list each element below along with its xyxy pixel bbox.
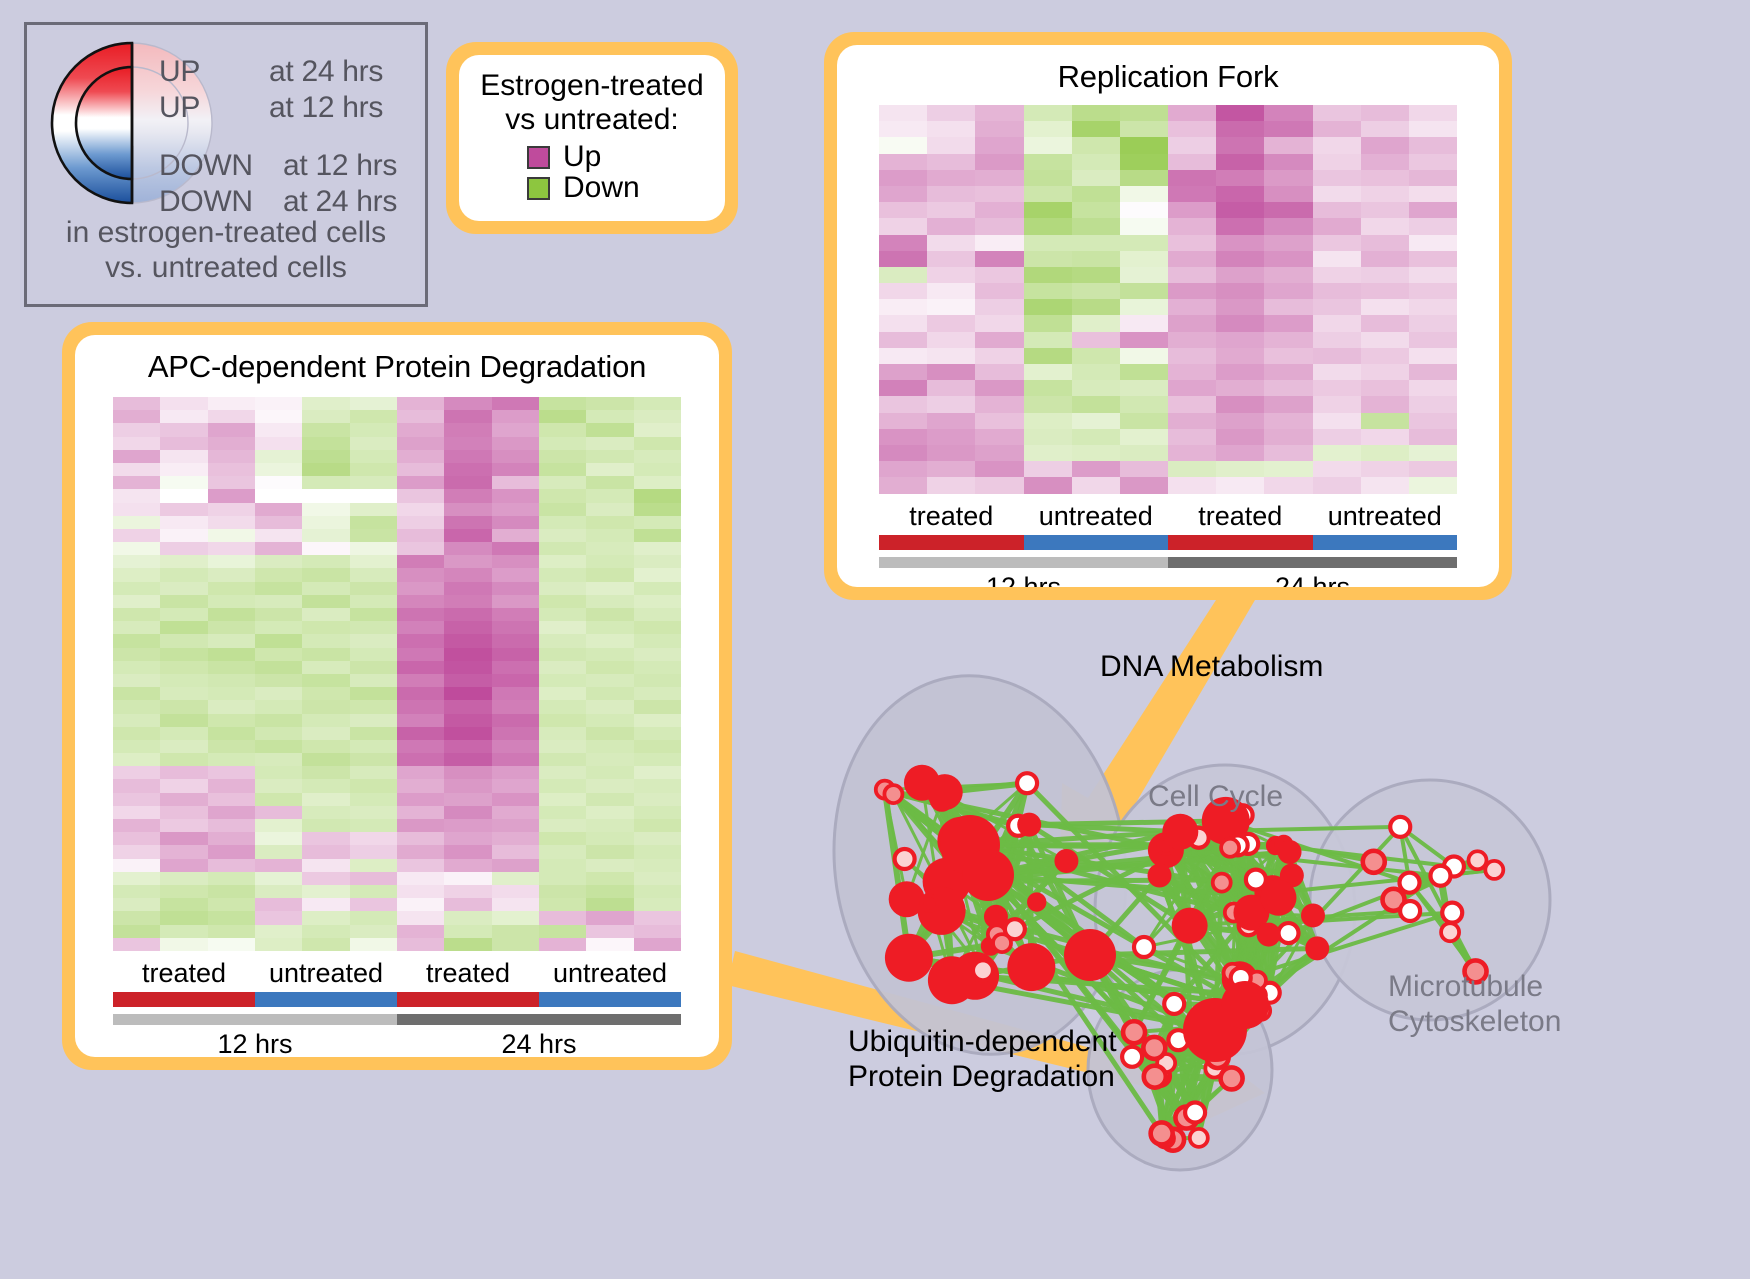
heatmap-cell	[1409, 202, 1457, 218]
heatmap-cell	[160, 806, 207, 819]
heatmap-cell	[160, 925, 207, 938]
heatmap-cell	[208, 779, 255, 792]
heatmap-cell	[1264, 218, 1312, 234]
heatmap-cell	[113, 608, 160, 621]
heatmap-cell	[113, 568, 160, 581]
heatmap-cell	[927, 364, 975, 380]
heatmap-cell	[1072, 315, 1120, 331]
legend-label-down: Down	[563, 173, 640, 204]
heatmap-cell	[255, 555, 302, 568]
heatmap-cell	[492, 779, 539, 792]
heatmap-cell	[975, 170, 1023, 186]
heatmap-cell	[1361, 105, 1409, 121]
key-time-1: at 12 hrs	[269, 91, 383, 125]
heatmap-cell	[302, 568, 349, 581]
heatmap-cell	[302, 845, 349, 858]
heatmap-cell	[113, 714, 160, 727]
heatmap-cell	[539, 674, 586, 687]
heatmap-cell	[397, 898, 444, 911]
heatmap-cell	[255, 727, 302, 740]
heatmap-cell	[1024, 477, 1072, 493]
heatmap-cell	[397, 555, 444, 568]
heatmap-cell	[397, 437, 444, 450]
heatmap-cell	[586, 674, 633, 687]
heatmap-cell	[113, 753, 160, 766]
heatmap-cell	[1361, 332, 1409, 348]
heatmap-cell	[1264, 235, 1312, 251]
heatmap-cell	[1409, 251, 1457, 267]
heatmap-cell	[255, 582, 302, 595]
heatmap-cell	[492, 806, 539, 819]
heatmap-cell	[1313, 445, 1361, 461]
heatmap-cell	[302, 476, 349, 489]
key-direction-0: UP	[159, 55, 200, 89]
heatmap-cell	[634, 450, 681, 463]
heatmap-cell	[208, 819, 255, 832]
heatmap-cell	[634, 714, 681, 727]
treatment-segment-treated-24	[397, 992, 539, 1007]
network-node	[1123, 1021, 1145, 1043]
heatmap-cell	[927, 445, 975, 461]
heatmap-cell	[302, 489, 349, 502]
heatmap-cell	[1072, 429, 1120, 445]
heatmap-cell	[634, 542, 681, 555]
cluster-label-ubiquitin: Ubiquitin-dependent Protein Degradation	[848, 1025, 1117, 1095]
heatmap-cell	[634, 516, 681, 529]
treatment-segment-treated-12	[879, 535, 1024, 550]
heatmap-cell	[350, 925, 397, 938]
cluster-label-microtubule-line1: Microtubule	[1388, 970, 1561, 1005]
heatmap-cell	[1216, 429, 1264, 445]
network-node	[928, 956, 976, 1004]
condition-label: untreated	[1313, 501, 1458, 532]
heatmap-cell	[586, 463, 633, 476]
heatmap-cell	[1024, 267, 1072, 283]
heatmap-cell	[255, 437, 302, 450]
heatmap-cell	[255, 410, 302, 423]
heatmap-cell	[255, 648, 302, 661]
heatmap-cell	[586, 568, 633, 581]
heatmap-cell	[1216, 364, 1264, 380]
heatmap-cell	[302, 819, 349, 832]
heatmap-cell	[1264, 283, 1312, 299]
heatmap-cell	[1024, 137, 1072, 153]
heatmap-cell	[492, 819, 539, 832]
heatmap-cell	[350, 740, 397, 753]
heatmap-cell	[397, 608, 444, 621]
heatmap-cell	[255, 529, 302, 542]
heatmap-cell	[634, 463, 681, 476]
heatmap-cell	[1024, 461, 1072, 477]
heatmap-cell	[397, 648, 444, 661]
heatmap-cell	[444, 872, 491, 885]
apc-condition-labels: treated untreated treated untreated	[113, 958, 681, 989]
heatmap-cell	[586, 476, 633, 489]
heatmap-cell	[1168, 396, 1216, 412]
heatmap-cell	[927, 170, 975, 186]
heatmap-cell	[113, 634, 160, 647]
time-segment-12	[113, 1014, 397, 1025]
heatmap-cell	[113, 437, 160, 450]
heatmap-cell	[160, 503, 207, 516]
heatmap-cell	[1361, 477, 1409, 493]
heatmap-cell	[160, 700, 207, 713]
heatmap-cell	[208, 423, 255, 436]
network-node	[1162, 814, 1198, 850]
heatmap-cell	[539, 766, 586, 779]
heatmap-cell	[208, 727, 255, 740]
heatmap-cell	[444, 397, 491, 410]
heatmap-cell	[539, 727, 586, 740]
heatmap-cell	[879, 332, 927, 348]
heatmap-cell	[1216, 461, 1264, 477]
heatmap-cell	[350, 648, 397, 661]
heatmap-cell	[113, 925, 160, 938]
network-node	[1190, 1129, 1208, 1147]
heatmap-cell	[1072, 461, 1120, 477]
heatmap-cell	[879, 315, 927, 331]
replication-fork-title: Replication Fork	[837, 45, 1499, 95]
heatmap-cell	[492, 437, 539, 450]
heatmap-cell	[1024, 202, 1072, 218]
heatmap-cell	[492, 529, 539, 542]
heatmap-cell	[634, 648, 681, 661]
heatmap-cell	[444, 555, 491, 568]
heatmap-cell	[255, 568, 302, 581]
heatmap-cell	[1409, 121, 1457, 137]
heatmap-cell	[160, 397, 207, 410]
heatmap-cell	[350, 595, 397, 608]
network-node	[1363, 851, 1385, 873]
heatmap-cell	[160, 832, 207, 845]
heatmap-cell	[927, 202, 975, 218]
heatmap-cell	[1216, 186, 1264, 202]
heatmap-cell	[160, 608, 207, 621]
heatmap-cell	[350, 410, 397, 423]
heatmap-cell	[302, 595, 349, 608]
network-node	[1213, 874, 1231, 892]
treatment-segment-untreated-12	[255, 992, 397, 1007]
heatmap-cell	[397, 674, 444, 687]
network-node	[1221, 981, 1269, 1029]
heatmap-cell	[302, 555, 349, 568]
heatmap-cell	[539, 793, 586, 806]
heatmap-cell	[255, 423, 302, 436]
heatmap-cell	[1313, 461, 1361, 477]
heatmap-cell	[397, 911, 444, 924]
heatmap-cell	[975, 186, 1023, 202]
heatmap-cell	[1072, 445, 1120, 461]
condition-label: untreated	[1024, 501, 1169, 532]
heatmap-cell	[444, 542, 491, 555]
heatmap-cell	[350, 476, 397, 489]
heatmap-cell	[1024, 364, 1072, 380]
heatmap-cell	[160, 714, 207, 727]
heatmap-cell	[1072, 348, 1120, 364]
heatmap-cell	[927, 315, 975, 331]
heatmap-cell	[397, 634, 444, 647]
heatmap-cell	[1168, 283, 1216, 299]
heatmap-cell	[975, 121, 1023, 137]
heatmap-cell	[208, 595, 255, 608]
heatmap-cell	[350, 568, 397, 581]
heatmap-cell	[444, 516, 491, 529]
heatmap-cell	[975, 105, 1023, 121]
heatmap-cell	[1024, 299, 1072, 315]
heatmap-cell	[634, 634, 681, 647]
heatmap-cell	[879, 251, 927, 267]
heatmap-cell	[255, 714, 302, 727]
heatmap-cell	[1361, 283, 1409, 299]
legend-heading-line1: Estrogen-treated	[469, 69, 715, 103]
heatmap-cell	[1168, 429, 1216, 445]
heatmap-cell	[1264, 105, 1312, 121]
network-node	[1257, 923, 1281, 947]
heatmap-cell	[634, 568, 681, 581]
heatmap-cell	[879, 283, 927, 299]
heatmap-cell	[444, 779, 491, 792]
condition-label: untreated	[255, 958, 397, 989]
heatmap-cell	[1168, 332, 1216, 348]
heatmap-cell	[879, 154, 927, 170]
heatmap-cell	[1120, 332, 1168, 348]
heatmap-cell	[1409, 477, 1457, 493]
heatmap-cell	[397, 489, 444, 502]
heatmap-cell	[492, 661, 539, 674]
legend-item-down: Down	[527, 173, 715, 204]
heatmap-cell	[1120, 170, 1168, 186]
heatmap-cell	[539, 568, 586, 581]
heatmap-cell	[113, 687, 160, 700]
heatmap-cell	[1168, 477, 1216, 493]
heatmap-cell	[539, 898, 586, 911]
heatmap-cell	[492, 621, 539, 634]
heatmap-cell	[586, 832, 633, 845]
heatmap-cell	[539, 885, 586, 898]
heatmap-cell	[1216, 348, 1264, 364]
heatmap-cell	[492, 503, 539, 516]
condition-label: treated	[113, 958, 255, 989]
heatmap-cell	[397, 793, 444, 806]
heatmap-cell	[1216, 235, 1264, 251]
heatmap-cell	[444, 503, 491, 516]
heatmap-cell	[302, 503, 349, 516]
heatmap-cell	[586, 489, 633, 502]
heatmap-cell	[927, 348, 975, 364]
heatmap-cell	[255, 779, 302, 792]
heatmap-cell	[1024, 154, 1072, 170]
heatmap-cell	[1168, 218, 1216, 234]
heatmap-cell	[1313, 315, 1361, 331]
network-graph	[790, 600, 1750, 1279]
heatmap-cell	[397, 740, 444, 753]
heatmap-cell	[208, 503, 255, 516]
heatmap-cell	[539, 503, 586, 516]
heatmap-cell	[634, 674, 681, 687]
heatmap-cell	[586, 845, 633, 858]
heatmap-cell	[927, 186, 975, 202]
heatmap-cell	[113, 410, 160, 423]
heatmap-cell	[255, 898, 302, 911]
heatmap-cell	[113, 779, 160, 792]
network-node	[1430, 866, 1450, 886]
heatmap-cell	[208, 608, 255, 621]
heatmap-cell	[302, 859, 349, 872]
heatmap-cell	[160, 621, 207, 634]
heatmap-cell	[586, 529, 633, 542]
heatmap-cell	[350, 885, 397, 898]
heatmap-cell	[975, 461, 1023, 477]
heatmap-cell	[397, 819, 444, 832]
heatmap-cell	[444, 410, 491, 423]
heatmap-cell	[255, 542, 302, 555]
heatmap-cell	[1361, 413, 1409, 429]
heatmap-cell	[879, 364, 927, 380]
legend-items: Up Down	[469, 142, 715, 203]
heatmap-cell	[160, 872, 207, 885]
heatmap-cell	[1072, 364, 1120, 380]
heatmap-cell	[1216, 413, 1264, 429]
heatmap-cell	[208, 634, 255, 647]
heatmap-cell	[208, 687, 255, 700]
heatmap-cell	[113, 859, 160, 872]
heatmap-cell	[350, 582, 397, 595]
heatmap-cell	[539, 911, 586, 924]
heatmap-cell	[492, 845, 539, 858]
condition-label: treated	[879, 501, 1024, 532]
heatmap-cell	[1168, 235, 1216, 251]
heatmap-cell	[208, 555, 255, 568]
heatmap-cell	[586, 503, 633, 516]
heatmap-cell	[302, 648, 349, 661]
heatmap-cell	[1409, 429, 1457, 445]
heatmap-cell	[1264, 445, 1312, 461]
heatmap-cell	[255, 845, 302, 858]
network-node	[1144, 1066, 1166, 1088]
heatmap-cell	[492, 925, 539, 938]
heatmap-cell	[1264, 315, 1312, 331]
heatmap-cell	[255, 634, 302, 647]
heatmap-cell	[208, 582, 255, 595]
heatmap-cell	[927, 396, 975, 412]
heatmap-cell	[1409, 267, 1457, 283]
heatmap-cell	[1072, 170, 1120, 186]
heatmap-cell	[302, 529, 349, 542]
legend-heading-line2: vs untreated:	[469, 103, 715, 137]
heatmap-cell	[1409, 445, 1457, 461]
heatmap-cell	[208, 516, 255, 529]
heatmap-cell	[1072, 396, 1120, 412]
key-caption: in estrogen-treated cells vs. untreated …	[27, 215, 425, 286]
heatmap-cell	[975, 429, 1023, 445]
heatmap-cell	[492, 898, 539, 911]
heatmap-cell	[1313, 396, 1361, 412]
heatmap-cell	[634, 582, 681, 595]
heatmap-cell	[397, 727, 444, 740]
heatmap-cell	[208, 648, 255, 661]
heatmap-cell	[350, 661, 397, 674]
heatmap-cell	[1120, 218, 1168, 234]
heatmap-cell	[492, 859, 539, 872]
heatmap-cell	[113, 489, 160, 502]
heatmap-cell	[634, 819, 681, 832]
heatmap-cell	[444, 898, 491, 911]
heatmap-cell	[975, 202, 1023, 218]
heatmap-cell	[1264, 186, 1312, 202]
heatmap-cell	[208, 674, 255, 687]
heatmap-cell	[160, 740, 207, 753]
heatmap-cell	[539, 516, 586, 529]
heatmap-cell	[397, 700, 444, 713]
heatmap-cell	[586, 727, 633, 740]
heatmap-cell	[1120, 202, 1168, 218]
heatmap-cell	[586, 661, 633, 674]
network-node	[1221, 839, 1239, 857]
heatmap-cell	[113, 595, 160, 608]
heatmap-cell	[113, 793, 160, 806]
heatmap-cell	[927, 477, 975, 493]
heatmap-cell	[444, 700, 491, 713]
heatmap-cell	[1409, 348, 1457, 364]
heatmap-cell	[397, 753, 444, 766]
heatmap-cell	[444, 489, 491, 502]
heatmap-cell	[975, 413, 1023, 429]
heatmap-cell	[586, 885, 633, 898]
heatmap-cell	[208, 463, 255, 476]
heatmap-cell	[113, 582, 160, 595]
heatmap-cell	[397, 582, 444, 595]
heatmap-cell	[1264, 364, 1312, 380]
heatmap-cell	[113, 529, 160, 542]
heatmap-cell	[1168, 445, 1216, 461]
heatmap-cell	[113, 463, 160, 476]
heatmap-cell	[113, 648, 160, 661]
heatmap-cell	[160, 450, 207, 463]
heatmap-cell	[927, 380, 975, 396]
heatmap-cell	[1168, 121, 1216, 137]
heatmap-cell	[397, 832, 444, 845]
heatmap-cell	[492, 766, 539, 779]
heatmap-cell	[1313, 218, 1361, 234]
heatmap-cell	[539, 542, 586, 555]
heatmap-cell	[634, 806, 681, 819]
heatmap-cell	[1216, 251, 1264, 267]
heatmap-cell	[1264, 461, 1312, 477]
network-node	[884, 785, 902, 803]
heatmap-cell	[1120, 105, 1168, 121]
heatmap-cell	[160, 911, 207, 924]
heatmap-cell	[1024, 380, 1072, 396]
treatment-segment-treated-24	[1168, 535, 1313, 550]
heatmap-cell	[492, 582, 539, 595]
heatmap-cell	[1361, 251, 1409, 267]
heatmap-cell	[397, 859, 444, 872]
network-node	[1164, 994, 1184, 1014]
heatmap-cell	[1313, 170, 1361, 186]
heatmap-cell	[586, 516, 633, 529]
heatmap-cell	[113, 898, 160, 911]
heatmap-cell	[586, 740, 633, 753]
heatmap-cell	[160, 859, 207, 872]
heatmap-cell	[634, 911, 681, 924]
heatmap-cell	[539, 819, 586, 832]
heatmap-cell	[302, 872, 349, 885]
heatmap-cell	[350, 793, 397, 806]
heatmap-cell	[586, 898, 633, 911]
heatmap-cell	[302, 885, 349, 898]
heatmap-cell	[539, 661, 586, 674]
heatmap-cell	[350, 608, 397, 621]
